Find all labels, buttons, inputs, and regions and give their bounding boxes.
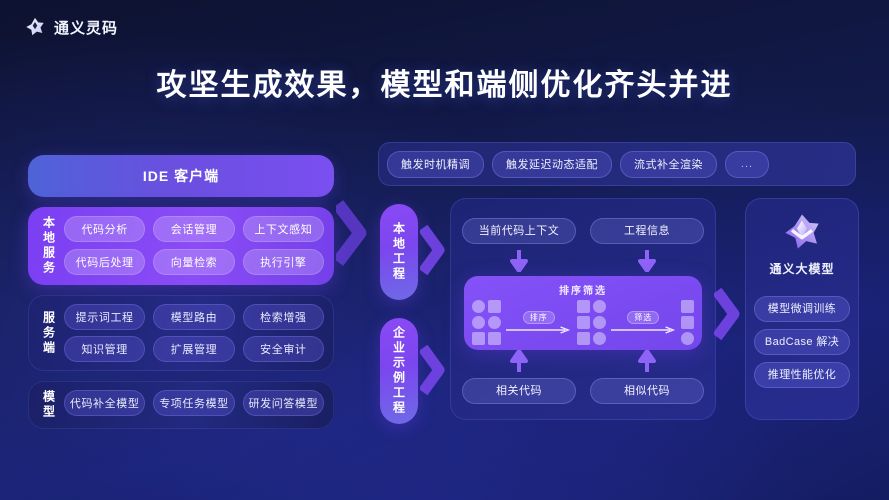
chip-prompt-engineering[interactable]: 提示词工程 (64, 304, 145, 330)
edge-optimization-strip: 触发时机精调 触发延迟动态适配 流式补全渲染 ... (378, 142, 856, 186)
slide-canvas: 通义灵码 攻坚生成效果，模型和端侧优化齐头并进 IDE 客户端 本地服务 代码分… (0, 0, 889, 500)
operation-sort-label: 排序 (523, 311, 555, 324)
pill-current-code-context[interactable]: 当前代码上下文 (462, 218, 576, 244)
model-panel-title: 通义大模型 (769, 260, 834, 277)
band-items-server-side: 提示词工程 模型路由 检索增强 知识管理 扩展管理 安全审计 (64, 304, 324, 362)
chip-dev-qa-model[interactable]: 研发问答模型 (243, 390, 324, 416)
band-items-model: 代码补全模型 专项任务模型 研发问答模型 (64, 390, 324, 420)
band-local-service: 本地服务 代码分析 会话管理 上下文感知 代码后处理 向量检索 执行引擎 (28, 207, 334, 285)
band-model: 模型 代码补全模型 专项任务模型 研发问答模型 (28, 381, 334, 429)
shape-cluster-sorted (577, 300, 606, 345)
operation-sort: 排序 (506, 311, 572, 334)
shape-cluster-filtered (681, 300, 694, 345)
pill-project-info[interactable]: 工程信息 (590, 218, 704, 244)
pipeline-outputs: 相关代码 相似代码 (462, 378, 704, 404)
chip-extension-mgmt[interactable]: 扩展管理 (153, 336, 234, 362)
chip-knowledge-mgmt[interactable]: 知识管理 (64, 336, 145, 362)
top-chip-more[interactable]: ... (725, 151, 769, 178)
chip-session-mgmt[interactable]: 会话管理 (153, 216, 234, 242)
pipeline-up-arrows (462, 350, 704, 372)
chevron-right-icon-local (420, 222, 448, 278)
chevron-right-icon-enterprise (420, 342, 448, 398)
band-label-model: 模型 (34, 390, 64, 420)
band-server-side: 服务端 提示词工程 模型路由 检索增强 知识管理 扩展管理 安全审计 (28, 295, 334, 371)
sort-filter-box: 排序筛选 排序 筛 (464, 276, 702, 350)
top-chip-trigger-timing[interactable]: 触发时机精调 (387, 151, 484, 178)
chip-code-completion-model[interactable]: 代码补全模型 (64, 390, 145, 416)
top-chip-latency-adapt[interactable]: 触发延迟动态适配 (492, 151, 612, 178)
tongyi-model-logo-icon (782, 212, 822, 252)
pill-model-finetune[interactable]: 模型微调训练 (754, 296, 850, 322)
tongyi-model-panel: 通义大模型 模型微调训练 BadCase 解决 推理性能优化 (745, 198, 859, 420)
chevron-right-icon-left (336, 198, 370, 268)
top-chip-stream-render[interactable]: 流式补全渲染 (620, 151, 717, 178)
arrow-right-icon-sort (506, 326, 572, 334)
chip-task-specific-model[interactable]: 专项任务模型 (153, 390, 234, 416)
operation-filter: 筛选 (611, 311, 677, 334)
pill-inference-optimization[interactable]: 推理性能优化 (754, 362, 850, 388)
arrow-right-icon-filter (611, 326, 677, 334)
brand: 通义灵码 (24, 16, 118, 38)
chevron-right-icon-model (714, 285, 744, 343)
pill-badcase-solving[interactable]: BadCase 解决 (754, 329, 850, 355)
sort-filter-title: 排序筛选 (464, 276, 702, 297)
chip-code-postprocess[interactable]: 代码后处理 (64, 249, 145, 275)
stage-label-local-project[interactable]: 本地工程 (380, 204, 418, 300)
pipeline-down-arrows (462, 250, 704, 272)
pipeline-inputs: 当前代码上下文 工程信息 (462, 218, 704, 244)
tongyi-lingma-logo-icon (24, 16, 46, 38)
stage-label-enterprise-project[interactable]: 企业示例工程 (380, 318, 418, 424)
ide-client-bar[interactable]: IDE 客户端 (28, 155, 334, 197)
chip-retrieval-augment[interactable]: 检索增强 (243, 304, 324, 330)
chip-vector-search[interactable]: 向量检索 (153, 249, 234, 275)
chip-code-analysis[interactable]: 代码分析 (64, 216, 145, 242)
context-pipeline-panel: 当前代码上下文 工程信息 排序筛选 (450, 198, 716, 420)
pill-similar-code[interactable]: 相似代码 (590, 378, 704, 404)
arrow-up-icon-2 (590, 350, 704, 372)
chip-model-routing[interactable]: 模型路由 (153, 304, 234, 330)
arrow-up-icon-1 (462, 350, 576, 372)
band-label-server-side: 服务端 (34, 304, 64, 362)
sort-filter-diagram: 排序 筛选 (472, 300, 694, 344)
brand-name: 通义灵码 (54, 17, 118, 38)
band-items-local-service: 代码分析 会话管理 上下文感知 代码后处理 向量检索 执行引擎 (64, 216, 324, 276)
arrow-down-icon-1 (462, 250, 576, 272)
arrow-down-icon-2 (590, 250, 704, 272)
chip-exec-engine[interactable]: 执行引擎 (243, 249, 324, 275)
left-architecture-column: IDE 客户端 本地服务 代码分析 会话管理 上下文感知 代码后处理 向量检索 … (28, 155, 334, 429)
operation-filter-label: 筛选 (627, 311, 659, 324)
chip-context-aware[interactable]: 上下文感知 (243, 216, 324, 242)
pill-related-code[interactable]: 相关代码 (462, 378, 576, 404)
chip-security-audit[interactable]: 安全审计 (243, 336, 324, 362)
shape-cluster-unsorted (472, 300, 501, 345)
band-label-local-service: 本地服务 (34, 216, 64, 276)
page-title: 攻坚生成效果，模型和端侧优化齐头并进 (0, 60, 889, 104)
